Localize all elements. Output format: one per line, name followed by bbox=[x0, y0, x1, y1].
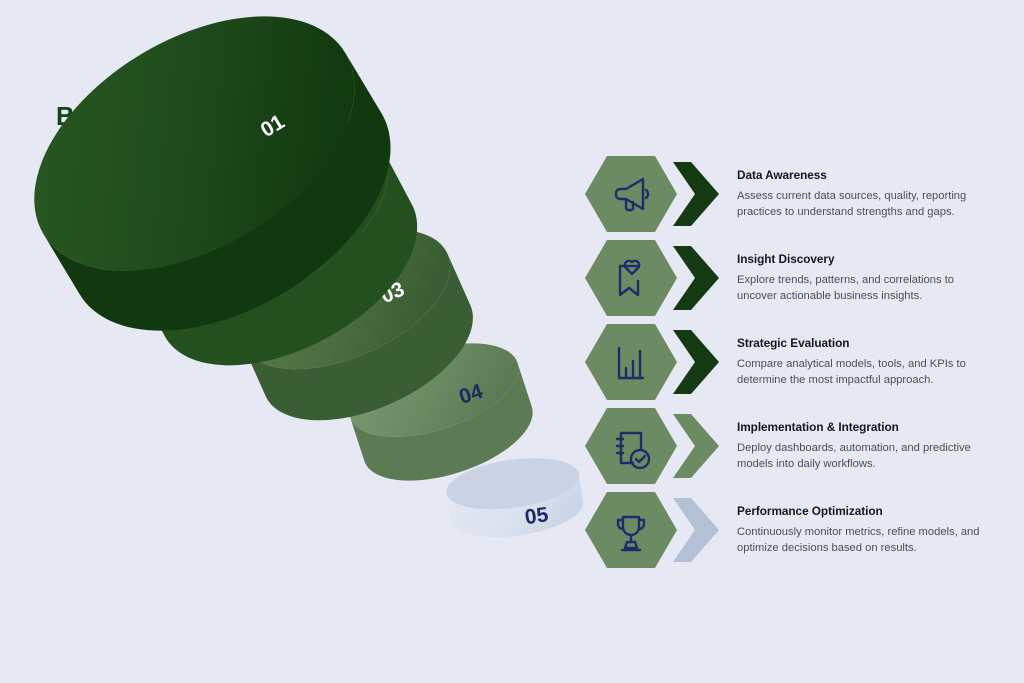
step-row[interactable]: Implementation & Integration Deploy dash… bbox=[583, 404, 1003, 488]
step-text-block: Implementation & Integration Deploy dash… bbox=[737, 420, 995, 472]
step-hexagon bbox=[583, 152, 679, 236]
step-row[interactable]: Insight Discovery Explore trends, patter… bbox=[583, 236, 1003, 320]
step-row[interactable]: Performance Optimization Continuously mo… bbox=[583, 488, 1003, 572]
step-text-block: Data Awareness Assess current data sourc… bbox=[737, 168, 995, 220]
step-arrow-icon bbox=[669, 244, 717, 312]
step-row[interactable]: Data Awareness Assess current data sourc… bbox=[583, 152, 1003, 236]
step-hexagon bbox=[583, 488, 679, 572]
step-hexagon bbox=[583, 236, 679, 320]
step-text-block: Insight Discovery Explore trends, patter… bbox=[737, 252, 995, 304]
step-arrow-icon bbox=[669, 412, 717, 480]
step-title: Data Awareness bbox=[737, 168, 995, 182]
step-description: Deploy dashboards, automation, and predi… bbox=[737, 440, 995, 472]
funnel-diagram: 05 04 03 02 bbox=[20, 195, 590, 595]
step-title: Strategic Evaluation bbox=[737, 336, 995, 350]
funnel-label-05: 05 bbox=[523, 503, 550, 529]
step-text-block: Performance Optimization Continuously mo… bbox=[737, 504, 995, 556]
step-arrow-icon bbox=[669, 496, 717, 564]
step-title: Implementation & Integration bbox=[737, 420, 995, 434]
step-title: Insight Discovery bbox=[737, 252, 995, 266]
step-description: Assess current data sources, quality, re… bbox=[737, 188, 995, 220]
step-description: Explore trends, patterns, and correlatio… bbox=[737, 272, 995, 304]
step-description: Continuously monitor metrics, refine mod… bbox=[737, 524, 995, 556]
step-arrow-icon bbox=[669, 328, 717, 396]
step-row[interactable]: Strategic Evaluation Compare analytical … bbox=[583, 320, 1003, 404]
step-description: Compare analytical models, tools, and KP… bbox=[737, 356, 995, 388]
step-title: Performance Optimization bbox=[737, 504, 995, 518]
step-text-block: Strategic Evaluation Compare analytical … bbox=[737, 336, 995, 388]
step-hexagon bbox=[583, 320, 679, 404]
steps-list: Data Awareness Assess current data sourc… bbox=[583, 152, 1003, 572]
infographic-canvas: Business Analytics & AI Five steps trans… bbox=[0, 0, 1024, 683]
step-arrow-icon bbox=[669, 160, 717, 228]
step-hexagon bbox=[583, 404, 679, 488]
